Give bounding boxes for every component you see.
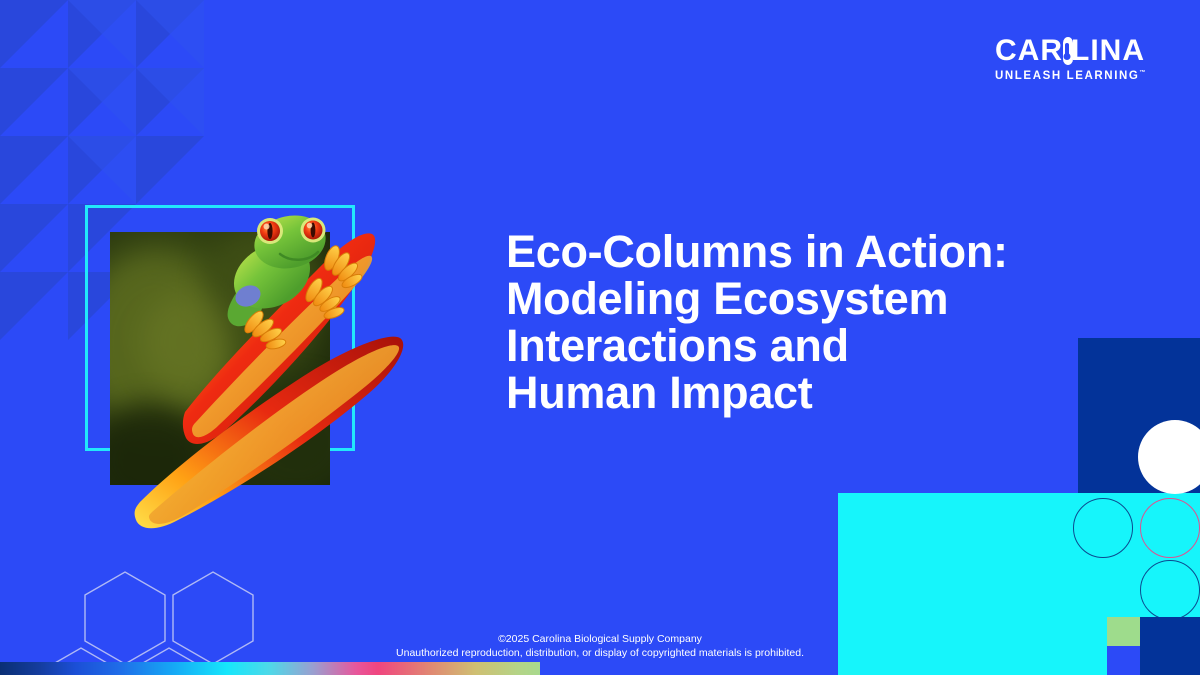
outline-circle-bottom: [1140, 560, 1200, 620]
slide-title: Eco-Columns in Action: Modeling Ecosyste…: [506, 228, 1106, 416]
presentation-title-slide: CAR LINA UNLEASH LEARNING™ Eco-Columns i…: [0, 0, 1200, 675]
logo-thermometer-icon: [1063, 37, 1071, 65]
carolina-logo[interactable]: CAR LINA UNLEASH LEARNING™: [995, 36, 1145, 82]
logo-tagline-text: UNLEASH LEARNING: [995, 70, 1139, 82]
hero-photo: [110, 232, 330, 485]
spectrum-gradient-bar: [0, 662, 540, 675]
logo-trademark: ™: [1139, 70, 1147, 76]
outline-circle-left: [1073, 498, 1133, 558]
logo-text-part2: LINA: [1071, 36, 1145, 66]
logo-wordmark: CAR LINA: [995, 36, 1145, 66]
logo-text-part1: CAR: [995, 36, 1063, 66]
usage-notice-line: Unauthorized reproduction, distribution,…: [0, 646, 1200, 660]
copyright-line: ©2025 Carolina Biological Supply Company: [0, 632, 1200, 646]
photo-background: [110, 232, 330, 485]
copyright-footer: ©2025 Carolina Biological Supply Company…: [0, 632, 1200, 660]
outline-circle-right: [1140, 498, 1200, 558]
logo-tagline: UNLEASH LEARNING™: [995, 70, 1145, 82]
